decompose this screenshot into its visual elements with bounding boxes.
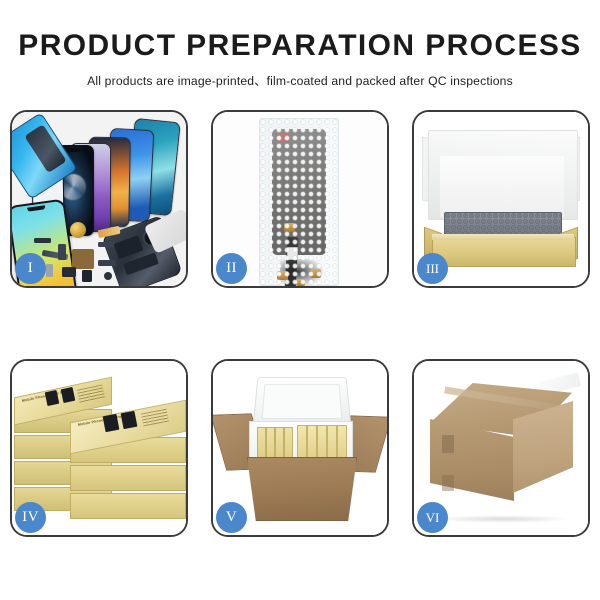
phone-notch: [65, 148, 81, 152]
kraft-box-base: [432, 237, 576, 267]
box-label-phone-image: [45, 390, 60, 406]
box-label-phone-image: [121, 411, 138, 429]
spare-part: [62, 267, 76, 277]
stacked-box: [70, 493, 186, 519]
spare-part: [72, 249, 94, 269]
spare-part: [34, 238, 51, 243]
step-badge-6: VI: [417, 502, 448, 533]
phone-notch: [27, 205, 45, 211]
step-panel-6[interactable]: VI: [412, 359, 590, 537]
box-label-phone-image: [61, 387, 76, 403]
carton-body: [247, 457, 357, 521]
step-panel-4[interactable]: Mobile Phone Spare Parts Mobile Phone Sp…: [10, 359, 188, 537]
step-badge-5: V: [216, 502, 247, 533]
box-label-phone-image: [103, 414, 120, 432]
battery-cell: [123, 252, 159, 275]
carton-tab: [442, 475, 454, 491]
step-panel-5[interactable]: V: [211, 359, 389, 537]
step-panel-2[interactable]: II: [211, 110, 389, 288]
step-panel-1[interactable]: I: [10, 110, 188, 288]
bubble-texture: [260, 119, 338, 285]
carton-tab: [442, 435, 454, 453]
bubble-wrap-bag: [259, 118, 339, 286]
stacked-box: [70, 465, 186, 491]
box-rim: [432, 234, 574, 240]
carton-shadow: [432, 515, 572, 523]
page-subtitle: All products are image-printed、film-coat…: [0, 62, 600, 89]
step-badge-4: IV: [15, 502, 46, 533]
header: PRODUCT PREPARATION PROCESS All products…: [0, 0, 600, 89]
spare-part: [98, 260, 116, 266]
spare-part: [46, 264, 53, 277]
step-badge-3: III: [417, 253, 448, 284]
process-steps-grid: I II: [10, 110, 590, 545]
step-panel-3[interactable]: III: [412, 110, 590, 288]
step-badge-1: I: [15, 253, 46, 284]
product-preparation-infographic: PRODUCT PREPARATION PROCESS All products…: [0, 0, 600, 600]
step-badge-2: II: [216, 253, 247, 284]
spare-part: [58, 244, 66, 260]
spare-part: [104, 272, 112, 280]
mainboard-chip: [114, 235, 144, 259]
spare-part: [82, 270, 92, 282]
page-title: PRODUCT PREPARATION PROCESS: [0, 0, 600, 62]
spare-part: [98, 242, 114, 247]
foam-lining: [440, 156, 564, 218]
speaker-coil: [70, 222, 86, 238]
